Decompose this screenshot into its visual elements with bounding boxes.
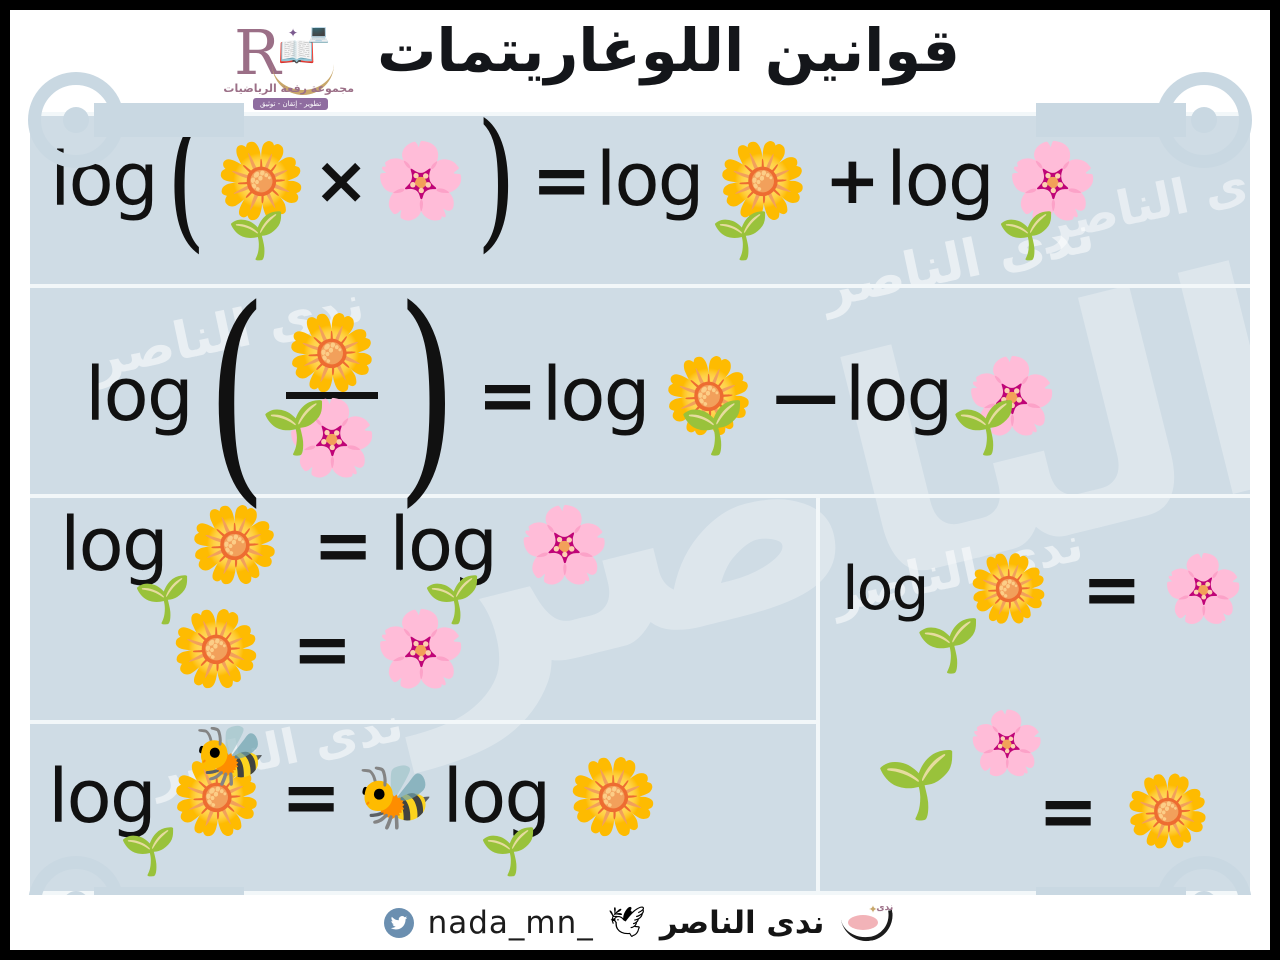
log-symbol: log	[60, 512, 167, 579]
paren-open: (	[206, 324, 267, 467]
blossom-decoration	[848, 915, 878, 930]
base-seedling-icon: 🌱	[876, 752, 958, 818]
log-symbol: log	[442, 764, 549, 831]
base-seedling-icon: 🌱	[228, 212, 285, 258]
equals-operator: =	[1076, 557, 1146, 622]
value-y-icon: 🌸	[374, 612, 466, 686]
base-seedling-icon: 🌱	[480, 828, 537, 874]
value-y-icon: 🌸	[518, 508, 610, 582]
poster-footer: nada_mn_ 🕊 ندى الناصر ✦ ندى	[10, 895, 1270, 950]
equals-operator: =	[286, 617, 356, 682]
equals-operator: =	[307, 513, 377, 578]
log-symbol: log	[542, 362, 649, 429]
log-symbol: log	[596, 147, 703, 214]
logo-tagline-pill: تطوير - إتقان - توثيق	[253, 98, 328, 110]
brand-logo: R ✦ 📖 💻 مجموعة رفعة الرياضيات تطوير - إت…	[232, 24, 354, 110]
value-x-icon: 🌼	[189, 508, 281, 582]
base-seedling-icon: 🌱	[916, 620, 981, 672]
paren-close: )	[396, 324, 457, 467]
base-seedling-icon: 🌱	[712, 212, 769, 258]
equals-operator: =	[471, 363, 541, 428]
poster-header: R ✦ 📖 💻 مجموعة رفعة الرياضيات تطوير - إت…	[10, 10, 1270, 112]
logo-arabic-name: مجموعة رفعة الرياضيات	[236, 82, 354, 95]
log-symbol: log	[389, 512, 496, 579]
dove-icon: 🕊	[608, 905, 646, 940]
rule-one-to-one: log 🌼 = log 🌸 🌱 🌱 🌼 = 🌸	[30, 494, 816, 720]
value-y-icon: 🌸	[1007, 144, 1099, 218]
paren-open: (	[166, 134, 206, 227]
laptop-icon: 💻	[308, 26, 329, 43]
rule-product: log ( 🌼 × 🌸 ) = log 🌼 + log 🌸 🌱 🌱 🌱	[30, 112, 1250, 284]
poster-sheet: R ✦ 📖 💻 مجموعة رفعة الرياضيات تطوير - إت…	[10, 10, 1270, 950]
minus-operator: —	[767, 366, 845, 425]
equals-operator: =	[525, 148, 595, 213]
value-x-icon: 🌼	[215, 144, 307, 218]
value-x-icon: 🌼	[1124, 776, 1211, 846]
value-x-icon: 🌼	[717, 144, 809, 218]
formula-board: ندى الناصر ندى الناصر ندى الناصر ندى الن…	[30, 112, 1250, 895]
bullseye-icon-top-right	[1156, 72, 1252, 168]
base-seedling-icon: 🌱	[120, 828, 177, 874]
rule-quotient: log ( 🌼 🌸 ) = log 🌼 — log 🌸 🌱 �	[30, 284, 1250, 494]
log-symbol: log	[48, 764, 155, 831]
log-symbol: log	[842, 562, 927, 616]
base-seedling-icon: 🌱	[262, 402, 327, 454]
twitter-icon[interactable]	[384, 908, 414, 938]
base-seedling-icon: 🌱	[998, 212, 1055, 258]
value-y-icon: 🌸	[1162, 556, 1244, 622]
value-y-icon: 🌸	[375, 144, 467, 218]
author-name: ندى الناصر	[660, 905, 825, 941]
page-title: قوانين اللوغاريتمات	[377, 16, 960, 85]
twitter-handle[interactable]: nada_mn_	[428, 905, 594, 941]
log-symbol: log	[85, 362, 192, 429]
value-x-icon: 🌼	[170, 612, 262, 686]
exponent-y-icon: 🌸	[968, 712, 1045, 774]
bullseye-icon-top-left	[28, 72, 124, 168]
mini-logo-label: ندى	[876, 903, 893, 913]
base-seedling-icon: 🌱	[680, 402, 745, 454]
times-operator: ×	[307, 151, 374, 210]
equals-operator: =	[1032, 779, 1102, 844]
exponent-bee-icon: 🐝	[194, 726, 266, 784]
value-x-icon: 🌼	[967, 556, 1049, 622]
rule-power: log 🌼 = 🐝 log 🌼 🐝 🌱 🌱	[30, 720, 816, 891]
mini-signature-logo: ✦ ندى	[838, 903, 896, 943]
value-x-icon: 🌼	[567, 760, 659, 834]
base-seedling-icon: 🌱	[952, 402, 1017, 454]
poster-root: R ✦ 📖 💻 مجموعة رفعة الرياضيات تطوير - إت…	[0, 0, 1280, 960]
numerator-x-icon: 🌼	[286, 316, 378, 390]
rule-definition: log 🌼 = 🌸 🌱 🌸 🌱 = 🌼	[820, 494, 1250, 895]
equals-operator: =	[275, 765, 345, 830]
log-symbol: log	[886, 147, 993, 214]
plus-operator: +	[819, 151, 886, 210]
log-symbol: log	[845, 362, 952, 429]
paren-close: )	[476, 134, 516, 227]
exponent-bee-icon: 🐝	[357, 766, 434, 828]
